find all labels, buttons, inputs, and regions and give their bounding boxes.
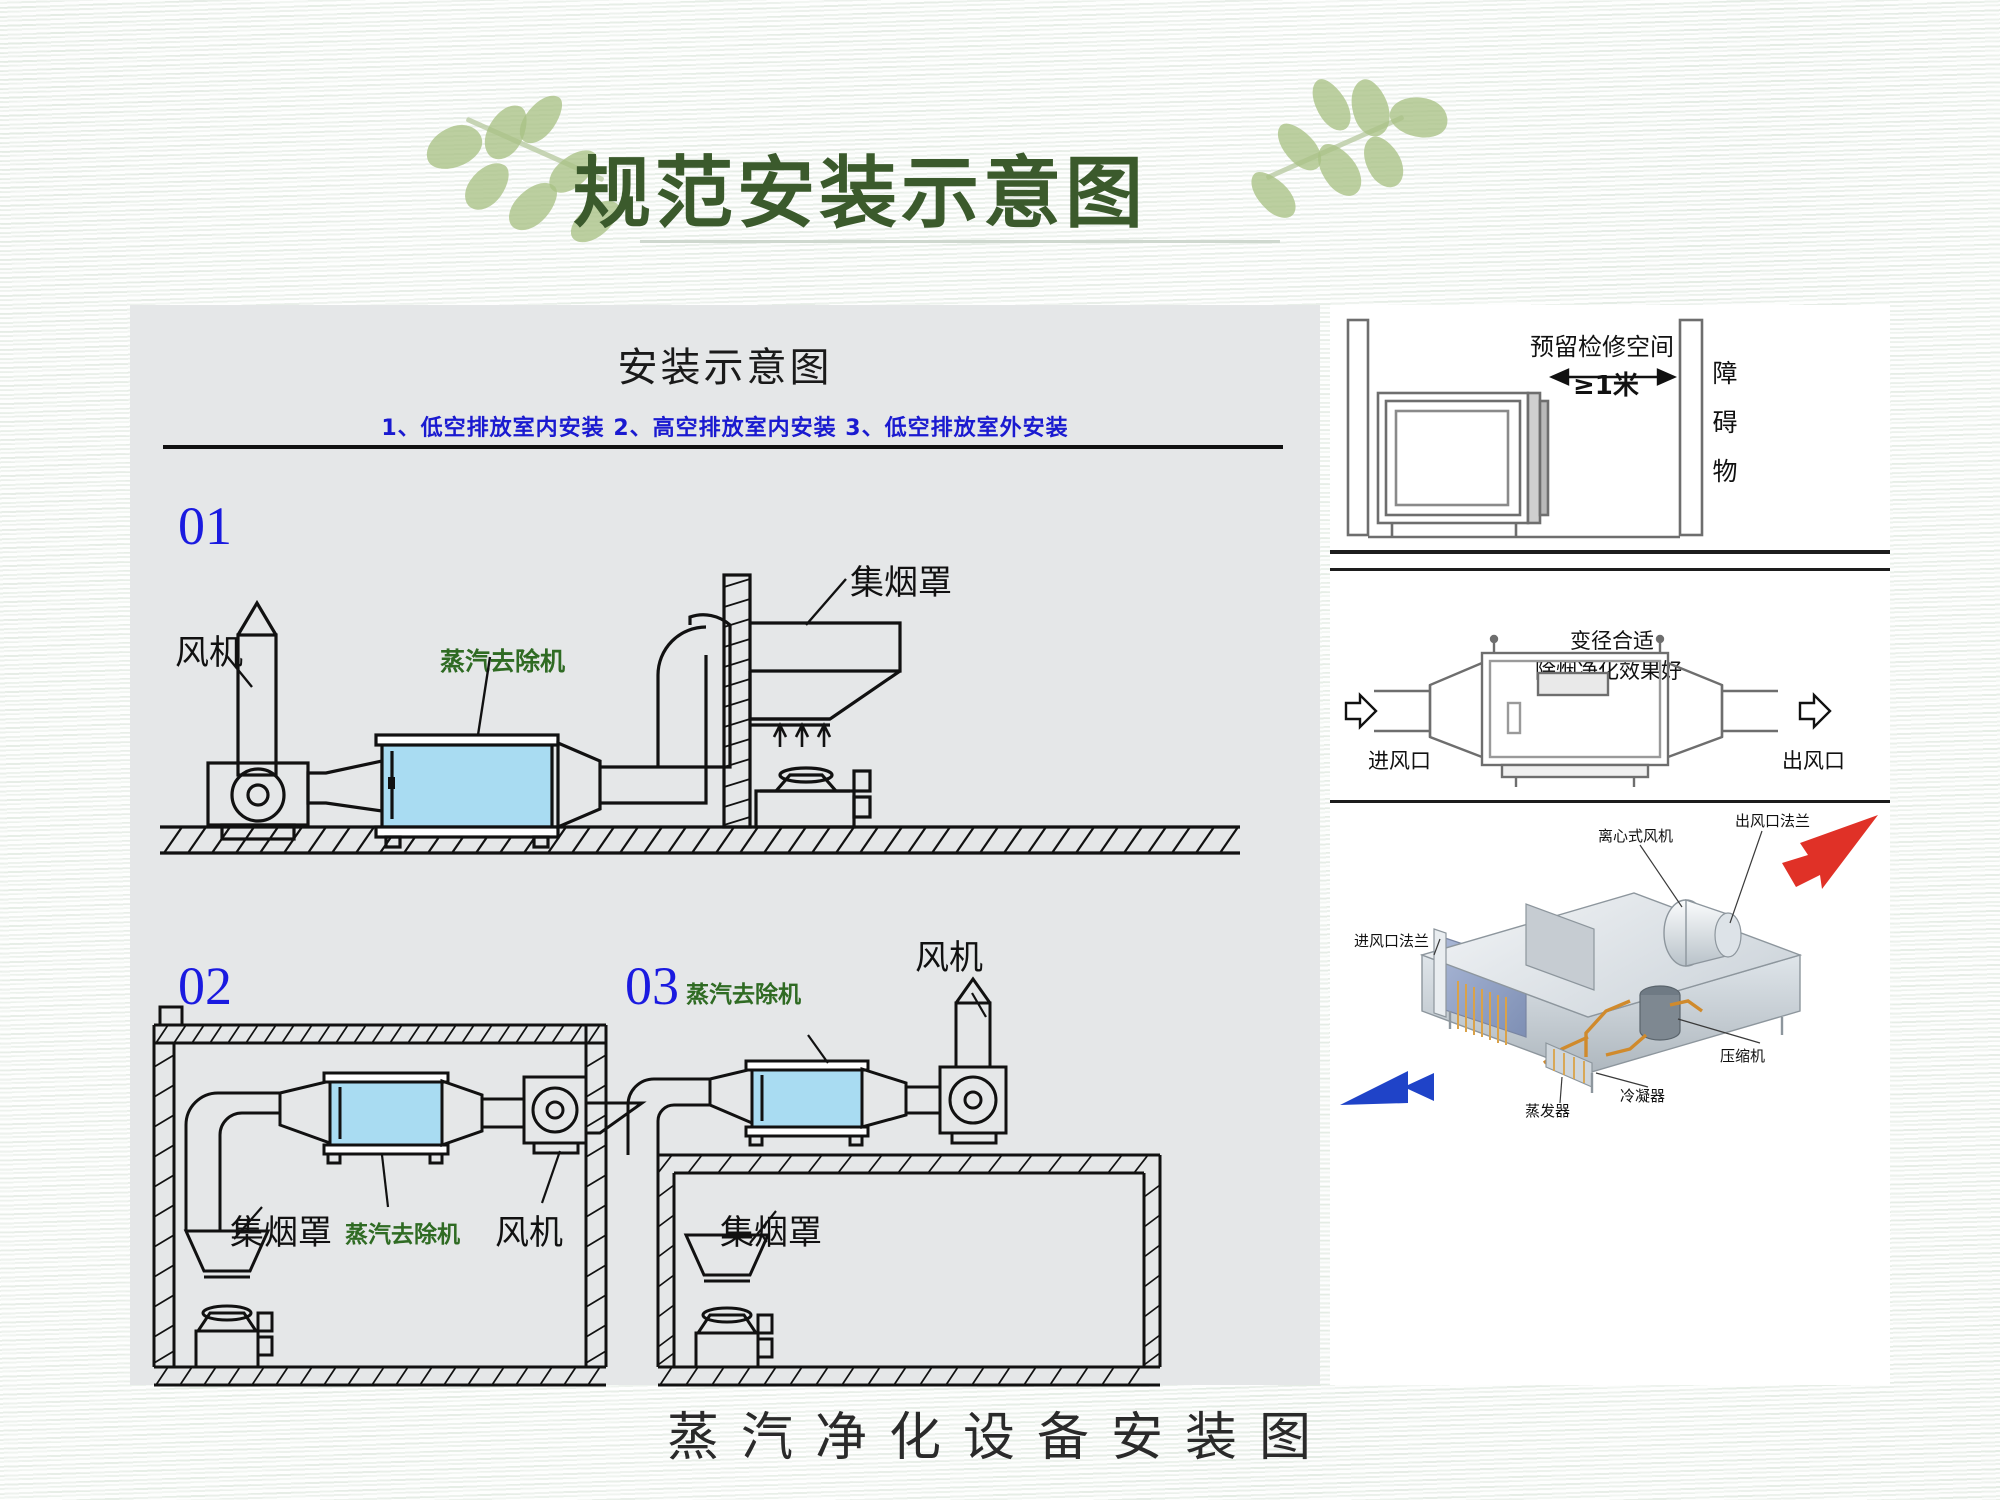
- panel-subtitle-rule: [163, 445, 1283, 449]
- exploded-equipment-drawing: [1330, 805, 1890, 1115]
- slide-canvas: 规范安装示意图 安装示意图 1、低空排放室内安装 2、高空排放室内安装 3、低空…: [0, 0, 2000, 1500]
- duct-drawing: [1330, 575, 1890, 805]
- panel-subtitle: 1、低空排放室内安装 2、高空排放室内安装 3、低空排放室外安装: [130, 410, 1320, 442]
- page-title: 规范安装示意图: [560, 155, 1160, 233]
- inlet-arrow-icon: [1340, 1071, 1434, 1105]
- diagram-03-drawing: [600, 995, 1260, 1395]
- panel-heading: 安装示意图: [130, 335, 1320, 393]
- reference-photos-panel: 预留检修空间 ≥1米 障 碍 物: [1330, 305, 1890, 1385]
- installation-diagram-panel: 安装示意图 1、低空排放室内安装 2、高空排放室内安装 3、低空排放室外安装 0…: [130, 305, 1320, 1385]
- leaf-sprig-right-icon: [1240, 75, 1450, 205]
- diagram-01-drawing: [130, 475, 1320, 895]
- slide-footer: 蒸汽净化设备安装图: [0, 1395, 2000, 1470]
- diagram-03-fan-label: 风机: [915, 930, 983, 979]
- right-panel-divider-2: [1330, 568, 1890, 571]
- title-underline: [640, 240, 1280, 243]
- outlet-arrow-icon: [1782, 815, 1878, 889]
- clearance-drawing: [1330, 305, 1890, 555]
